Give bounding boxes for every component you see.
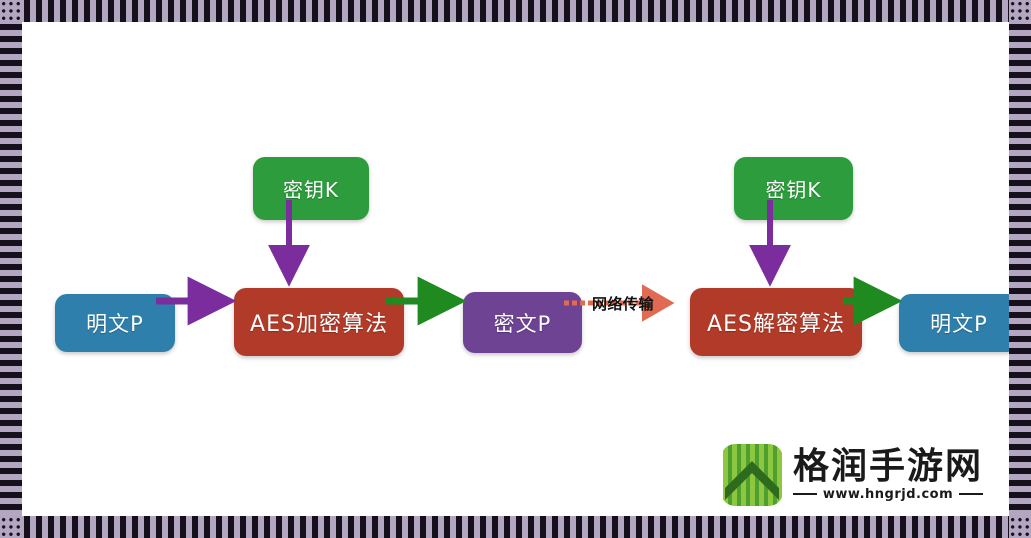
node-label: 密钥K	[765, 174, 821, 203]
watermark-title: 格润手游网	[793, 448, 983, 486]
node-plaintext-right: 明文P	[899, 294, 1019, 352]
watermark-text: 格润手游网 www.hngrjd.com	[793, 448, 983, 502]
frame-stripe-top	[0, 0, 1031, 22]
watermark-rule-left	[793, 493, 817, 495]
frame-stripe-left	[0, 0, 22, 538]
watermark: 格润手游网 www.hngrjd.com	[721, 444, 983, 506]
frame-corner-top-right	[1009, 0, 1031, 22]
node-aes-encrypt: AES加密算法	[234, 288, 404, 356]
node-label: AES解密算法	[707, 306, 845, 338]
node-label: 密文P	[494, 308, 552, 338]
watermark-url-row: www.hngrjd.com	[793, 487, 983, 502]
frame-stripe-right	[1009, 0, 1031, 538]
frame-corner-bottom-right	[1009, 516, 1031, 538]
screenshot-root: 明文P AES加密算法 密文P AES解密算法 明文P 密钥K 密钥K 网络传输	[0, 0, 1031, 538]
watermark-url: www.hngrjd.com	[823, 487, 953, 502]
frame-corner-bottom-left	[0, 516, 22, 538]
node-label: 明文P	[86, 308, 144, 338]
watermark-logo-icon	[721, 444, 783, 506]
watermark-rule-right	[959, 493, 983, 495]
node-ciphertext: 密文P	[463, 292, 582, 353]
edge-label-network-transmission: 网络传输	[592, 293, 654, 314]
node-key-left: 密钥K	[253, 157, 369, 220]
node-plaintext-left: 明文P	[55, 294, 175, 352]
node-label: AES加密算法	[250, 306, 388, 338]
node-aes-decrypt: AES解密算法	[690, 288, 862, 356]
diagram-canvas: 明文P AES加密算法 密文P AES解密算法 明文P 密钥K 密钥K 网络传输	[22, 22, 1009, 516]
frame-stripe-bottom	[0, 516, 1031, 538]
node-key-right: 密钥K	[734, 157, 853, 220]
frame-corner-top-left	[0, 0, 22, 22]
node-label: 明文P	[930, 308, 988, 338]
node-label: 密钥K	[283, 174, 339, 203]
